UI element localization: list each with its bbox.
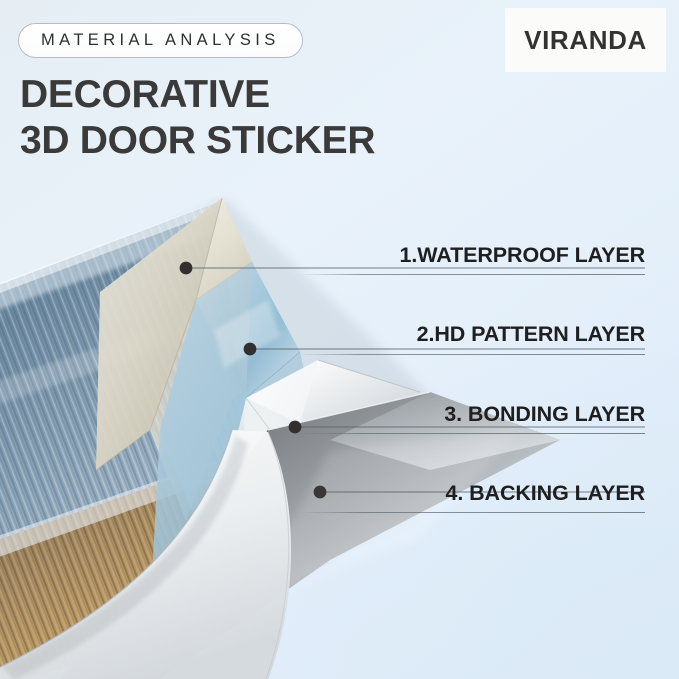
callout-label-4: 4. BACKING LAYER: [445, 481, 645, 506]
title-line-2: 3D DOOR STICKER: [20, 118, 375, 164]
callout-dot-1[interactable]: [180, 262, 193, 275]
callout-underline-1: [300, 274, 645, 275]
eyebrow-badge: MATERIAL ANALYSIS: [18, 23, 303, 58]
title-line-1: DECORATIVE: [20, 73, 270, 116]
callout-underline-2: [300, 354, 645, 355]
eyebrow-label: MATERIAL ANALYSIS: [41, 31, 280, 50]
brand-logo: VIRANDA: [505, 8, 666, 72]
callout-label-2: 2.HD PATTERN LAYER: [417, 322, 645, 347]
callout-label-3: 3. BONDING LAYER: [444, 402, 645, 427]
callout-dot-2[interactable]: [244, 343, 257, 356]
page-title: DECORATIVE 3D DOOR STICKER: [20, 72, 375, 164]
callout-label-1: 1.WATERPROOF LAYER: [400, 243, 645, 268]
brand-name: VIRANDA: [524, 25, 647, 56]
poster-canvas: MATERIAL ANALYSIS DECORATIVE 3D DOOR STI…: [0, 0, 679, 679]
callout-dot-3[interactable]: [289, 421, 302, 434]
callout-underline-3: [300, 433, 645, 434]
callout-underline-4: [300, 512, 645, 513]
callout-dot-4[interactable]: [314, 486, 327, 499]
